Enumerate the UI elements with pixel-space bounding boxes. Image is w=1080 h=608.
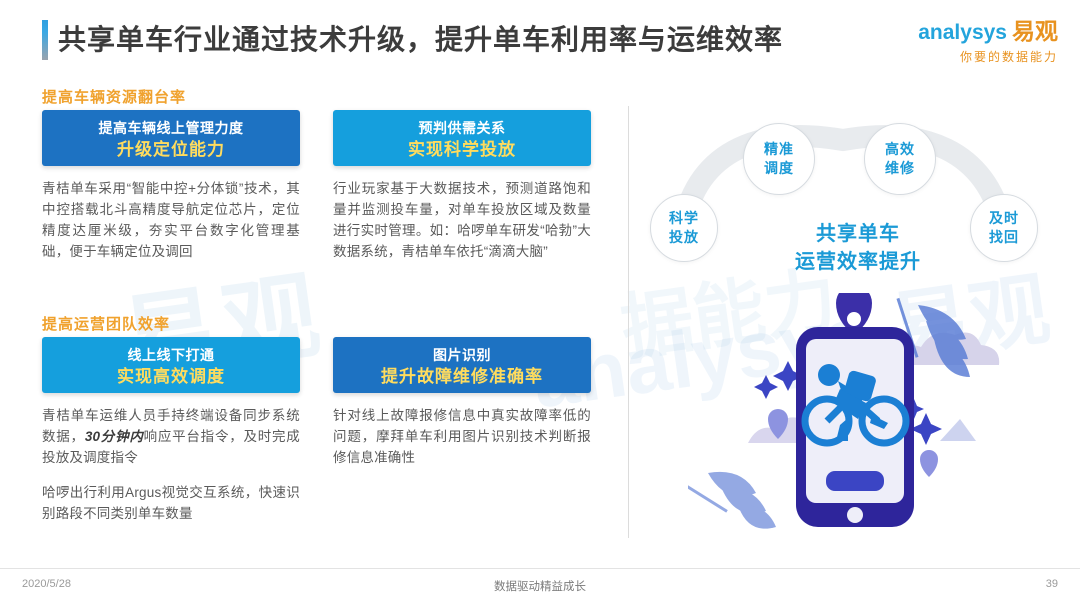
title-accent-bar: [42, 20, 48, 60]
diagram-node-efficient-repair[interactable]: 高效 维修: [864, 123, 936, 195]
footer-page-number: 39: [1046, 578, 1058, 590]
brand-logo: analysys易观 你要的数据能力: [918, 20, 1058, 65]
leaf-decoration-left: [688, 472, 776, 529]
diagram-node-timely-recovery[interactable]: 及时 找回: [970, 194, 1038, 262]
node-label-line1: 及时: [989, 209, 1019, 228]
right-diagram-column: 科学 投放 精准 调度 高效 维修 及时 找回 共享单车 运营效率提升: [628, 78, 1080, 548]
diagram-node-scientific-deployment[interactable]: 科学 投放: [650, 194, 718, 262]
card-body-efficient-dispatch: 青桔单车运维人员手持终端设备同步系统数据，30分钟内响应平台指令，及时完成投放及…: [42, 405, 300, 468]
logo-wordmark: analysys易观: [918, 20, 1058, 43]
phone-cyclist-illustration: [688, 293, 1078, 543]
card-image-recognition[interactable]: 图片识别 提升故障维修准确率: [333, 337, 591, 393]
section-heading-1: 提高车辆资源翻台率: [42, 86, 186, 107]
node-label-line2: 投放: [669, 228, 699, 247]
section-heading-2: 提高运营团队效率: [42, 313, 170, 334]
card-title-line2: 提升故障维修准确率: [333, 365, 591, 389]
card-title-line1: 提高车辆线上管理力度: [42, 118, 300, 138]
logo-tagline: 你要的数据能力: [918, 48, 1058, 65]
card-body-upgrade-positioning: 青桔单车采用“智能中控+分体锁”技术，其中控搭载北斗高精度导航定位芯片，定位精度…: [42, 178, 300, 262]
body-emphasis: 30分钟内: [85, 429, 144, 444]
card-title-line1: 线上线下打通: [42, 345, 300, 365]
node-label-line1: 高效: [885, 140, 915, 159]
phone-cta-button: [826, 471, 884, 491]
card-title-line1: 图片识别: [333, 345, 591, 365]
slide-header: 共享单车行业通过技术升级，提升单车利用率与运维效率 analysys易观 你要的…: [0, 0, 1080, 72]
slide-root: analysys 易观 易观 据能力 共享单车行业通过技术升级，提升单车利用率与…: [0, 0, 1080, 608]
logo-wordmark-cn: 易观: [1012, 18, 1058, 44]
card-title-line1: 预判供需关系: [333, 118, 591, 138]
footer-divider: [0, 568, 1080, 569]
diagram-node-precise-dispatch[interactable]: 精准 调度: [743, 123, 815, 195]
node-label-line2: 找回: [989, 228, 1019, 247]
center-label-line1: 共享单车: [768, 220, 948, 248]
left-content-column: 提高车辆资源翻台率 提高运营团队效率 提高车辆线上管理力度 升级定位能力 青桔单…: [0, 78, 628, 548]
phone-home-button: [847, 507, 863, 523]
card-body-efficient-dispatch-second: 哈啰出行利用Argus视觉交互系统，快速识别路段不同类别单车数量: [42, 482, 300, 524]
card-title-line2: 实现高效调度: [42, 365, 300, 389]
node-label-line2: 维修: [885, 159, 915, 178]
center-label-line2: 运营效率提升: [768, 248, 948, 276]
card-title-line2: 升级定位能力: [42, 138, 300, 162]
card-upgrade-positioning[interactable]: 提高车辆线上管理力度 升级定位能力: [42, 110, 300, 166]
node-label-line1: 精准: [764, 140, 794, 159]
footer-slogan: 数据驱动精益成长: [0, 578, 1080, 594]
card-title-line2: 实现科学投放: [333, 138, 591, 162]
node-label-line2: 调度: [764, 159, 794, 178]
card-body-scientific-deployment: 行业玩家基于大数据技术，预测道路饱和量并监测投车量，对单车投放区域及数量进行实时…: [333, 178, 591, 262]
diagram-center-label: 共享单车 运营效率提升: [768, 220, 948, 276]
page-title: 共享单车行业通过技术升级，提升单车利用率与运维效率: [58, 18, 783, 58]
card-body-image-recognition: 针对线上故障报修信息中真实故障率低的问题，摩拜单车利用图片识别技术判断报修信息准…: [333, 405, 591, 468]
card-scientific-deployment[interactable]: 预判供需关系 实现科学投放: [333, 110, 591, 166]
logo-wordmark-en: analysys: [918, 21, 1007, 44]
node-label-line1: 科学: [669, 209, 699, 228]
card-efficient-dispatch[interactable]: 线上线下打通 实现高效调度: [42, 337, 300, 393]
